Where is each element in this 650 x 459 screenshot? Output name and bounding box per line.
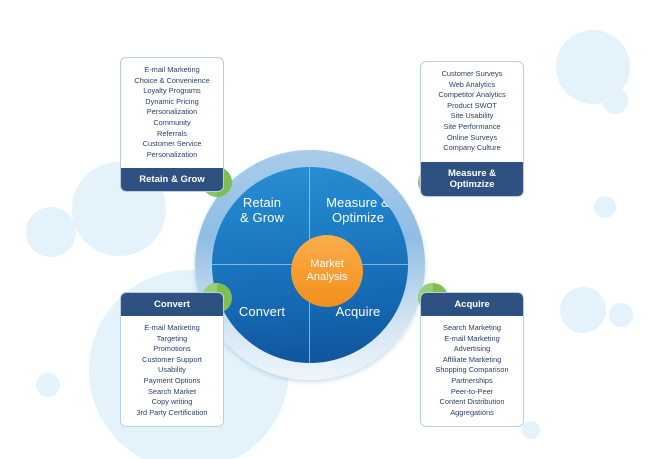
panel-measure-heading-line2: Optimzize [423, 179, 521, 190]
panel-list-item: Site Performance [424, 122, 520, 133]
panel-list-item: Aggregations [424, 408, 520, 419]
core-circle-market-analysis[interactable]: Market Analysis [291, 235, 363, 307]
panel-convert-list: E-mail MarketingTargetingPromotionsCusto… [121, 316, 223, 426]
quadrant-measure-line1: Measure & [316, 195, 400, 210]
core-label-line1: Market [310, 258, 344, 271]
background-bubble [560, 287, 606, 333]
quadrant-convert-line1: Convert [220, 304, 304, 319]
quadrant-label-convert[interactable]: Convert [220, 304, 304, 319]
panel-list-item: Peer-to-Peer [424, 387, 520, 398]
panel-list-item: Search Market [124, 387, 220, 398]
panel-list-item: Targeting [124, 334, 220, 345]
panel-retain-grow-list: E-mail MarketingChoice & ConvenienceLoya… [121, 58, 223, 168]
wheel-disc: Retain & Grow Measure & Optimize Convert… [212, 167, 408, 363]
panel-convert-heading: Convert [121, 293, 223, 316]
panel-convert[interactable]: Convert E-mail MarketingTargetingPromoti… [120, 292, 224, 427]
panel-list-item: Advertising [424, 344, 520, 355]
panel-list-item: Online Surveys [424, 133, 520, 144]
panel-list-item: Site Usability [424, 111, 520, 122]
panel-list-item: 3rd Party Certification [124, 408, 220, 419]
panel-list-item: Dynamic Pricing [124, 97, 220, 108]
panel-retain-grow-heading: Retain & Grow [121, 168, 223, 191]
background-bubble [609, 303, 633, 327]
background-bubble [556, 30, 630, 104]
panel-acquire[interactable]: Acquire Search MarketingE-mail Marketing… [420, 292, 524, 427]
panel-acquire-heading: Acquire [421, 293, 523, 316]
panel-list-item: Personalization [124, 150, 220, 161]
panel-list-item: Company Culture [424, 143, 520, 154]
background-bubble [602, 88, 628, 114]
panel-list-item: Referrals [124, 129, 220, 140]
panel-list-item: Customer Service [124, 139, 220, 150]
background-bubble [26, 207, 76, 257]
panel-list-item: Choice & Convenience [124, 76, 220, 87]
diagram-canvas: Retain & Grow Measure & Optimize Convert… [0, 0, 650, 459]
panel-list-item: Usability [124, 365, 220, 376]
panel-list-item: Community [124, 118, 220, 129]
panel-list-item: Payment Options [124, 376, 220, 387]
panel-measure-optimize-heading: Measure & Optimzize [421, 162, 523, 196]
panel-list-item: Partnerships [424, 376, 520, 387]
panel-list-item: Product SWOT [424, 101, 520, 112]
quadrant-label-measure-optimize[interactable]: Measure & Optimize [316, 195, 400, 225]
panel-list-item: E-mail Marketing [424, 334, 520, 345]
core-label-line2: Analysis [307, 271, 348, 284]
panel-list-item: Web Analytics [424, 80, 520, 91]
panel-measure-heading-line1: Measure & [423, 168, 521, 179]
background-bubble [522, 421, 540, 439]
quadrant-label-retain-grow[interactable]: Retain & Grow [220, 195, 304, 225]
background-bubble [36, 373, 60, 397]
panel-list-item: Loyalty Programs [124, 86, 220, 97]
panel-list-item: Personalization [124, 107, 220, 118]
panel-list-item: E-mail Marketing [124, 323, 220, 334]
panel-measure-optimize-list: Customer SurveysWeb AnalyticsCompetitor … [421, 62, 523, 162]
panel-list-item: Customer Support [124, 355, 220, 366]
panel-list-item: Customer Surveys [424, 69, 520, 80]
panel-acquire-list: Search MarketingE-mail MarketingAdvertis… [421, 316, 523, 426]
quadrant-retain-line1: Retain [220, 195, 304, 210]
background-bubble [594, 196, 616, 218]
quadrant-measure-line2: Optimize [316, 210, 400, 225]
panel-list-item: Search Marketing [424, 323, 520, 334]
panel-list-item: Content Distribution [424, 397, 520, 408]
panel-list-item: Copy writing [124, 397, 220, 408]
panel-list-item: Promotions [124, 344, 220, 355]
panel-measure-optimize[interactable]: Customer SurveysWeb AnalyticsCompetitor … [420, 61, 524, 197]
panel-list-item: Affiliate Marketing [424, 355, 520, 366]
panel-list-item: E-mail Marketing [124, 65, 220, 76]
panel-list-item: Competitor Analytics [424, 90, 520, 101]
panel-retain-grow[interactable]: E-mail MarketingChoice & ConvenienceLoya… [120, 57, 224, 192]
quadrant-retain-line2: & Grow [220, 210, 304, 225]
panel-list-item: Shopping Comparison [424, 365, 520, 376]
